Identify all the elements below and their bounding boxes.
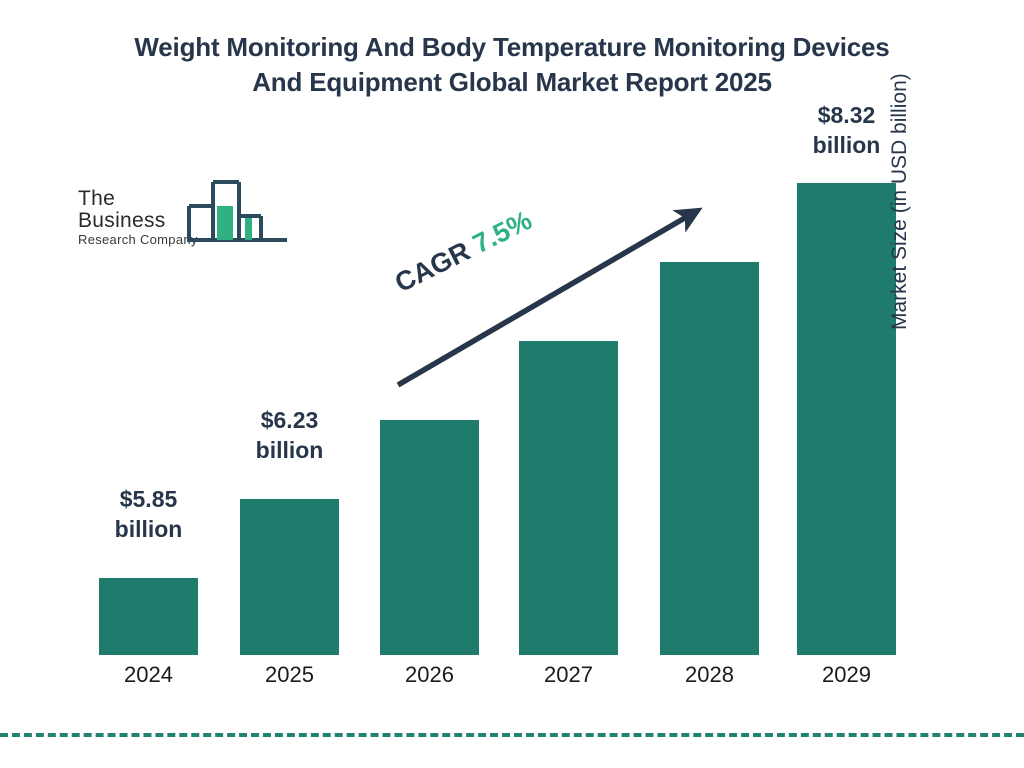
value-label-2024-unit: billion (59, 514, 239, 544)
x-label-2027: 2027 (519, 662, 618, 688)
bar-2024[interactable] (99, 578, 198, 655)
value-label-2025: $6.23billion (200, 405, 380, 466)
bar-2028[interactable] (660, 262, 759, 655)
cagr-annotation: CAGR 7.5% (390, 205, 537, 299)
x-label-2029: 2029 (797, 662, 896, 688)
cagr-value: 7.5% (468, 205, 536, 259)
company-logo: The Business Research Company (78, 180, 288, 250)
y-axis-title: Market Size (in USD billion) (888, 0, 912, 330)
x-label-2024: 2024 (99, 662, 198, 688)
page-title-line-2: And Equipment Global Market Report 2025 (62, 65, 962, 100)
bar-chart-logo-mark-icon (183, 176, 291, 248)
value-label-2025-amount: $6.23 (200, 405, 380, 435)
cagr-label: CAGR (390, 236, 475, 298)
bar-2026[interactable] (380, 420, 479, 655)
bottom-divider (0, 733, 1024, 737)
market-report-bar-chart: Weight Monitoring And Body Temperature M… (0, 0, 1024, 768)
x-label-2025: 2025 (240, 662, 339, 688)
bar-2025[interactable] (240, 499, 339, 655)
x-label-2026: 2026 (380, 662, 479, 688)
bar-2029[interactable] (797, 183, 896, 655)
bar-2027[interactable] (519, 341, 618, 655)
x-label-2028: 2028 (660, 662, 759, 688)
value-label-2024: $5.85billion (59, 484, 239, 545)
page-title-line-1: Weight Monitoring And Body Temperature M… (62, 30, 962, 65)
page-title: Weight Monitoring And Body Temperature M… (62, 30, 962, 99)
value-label-2024-amount: $5.85 (59, 484, 239, 514)
value-label-2025-unit: billion (200, 435, 380, 465)
